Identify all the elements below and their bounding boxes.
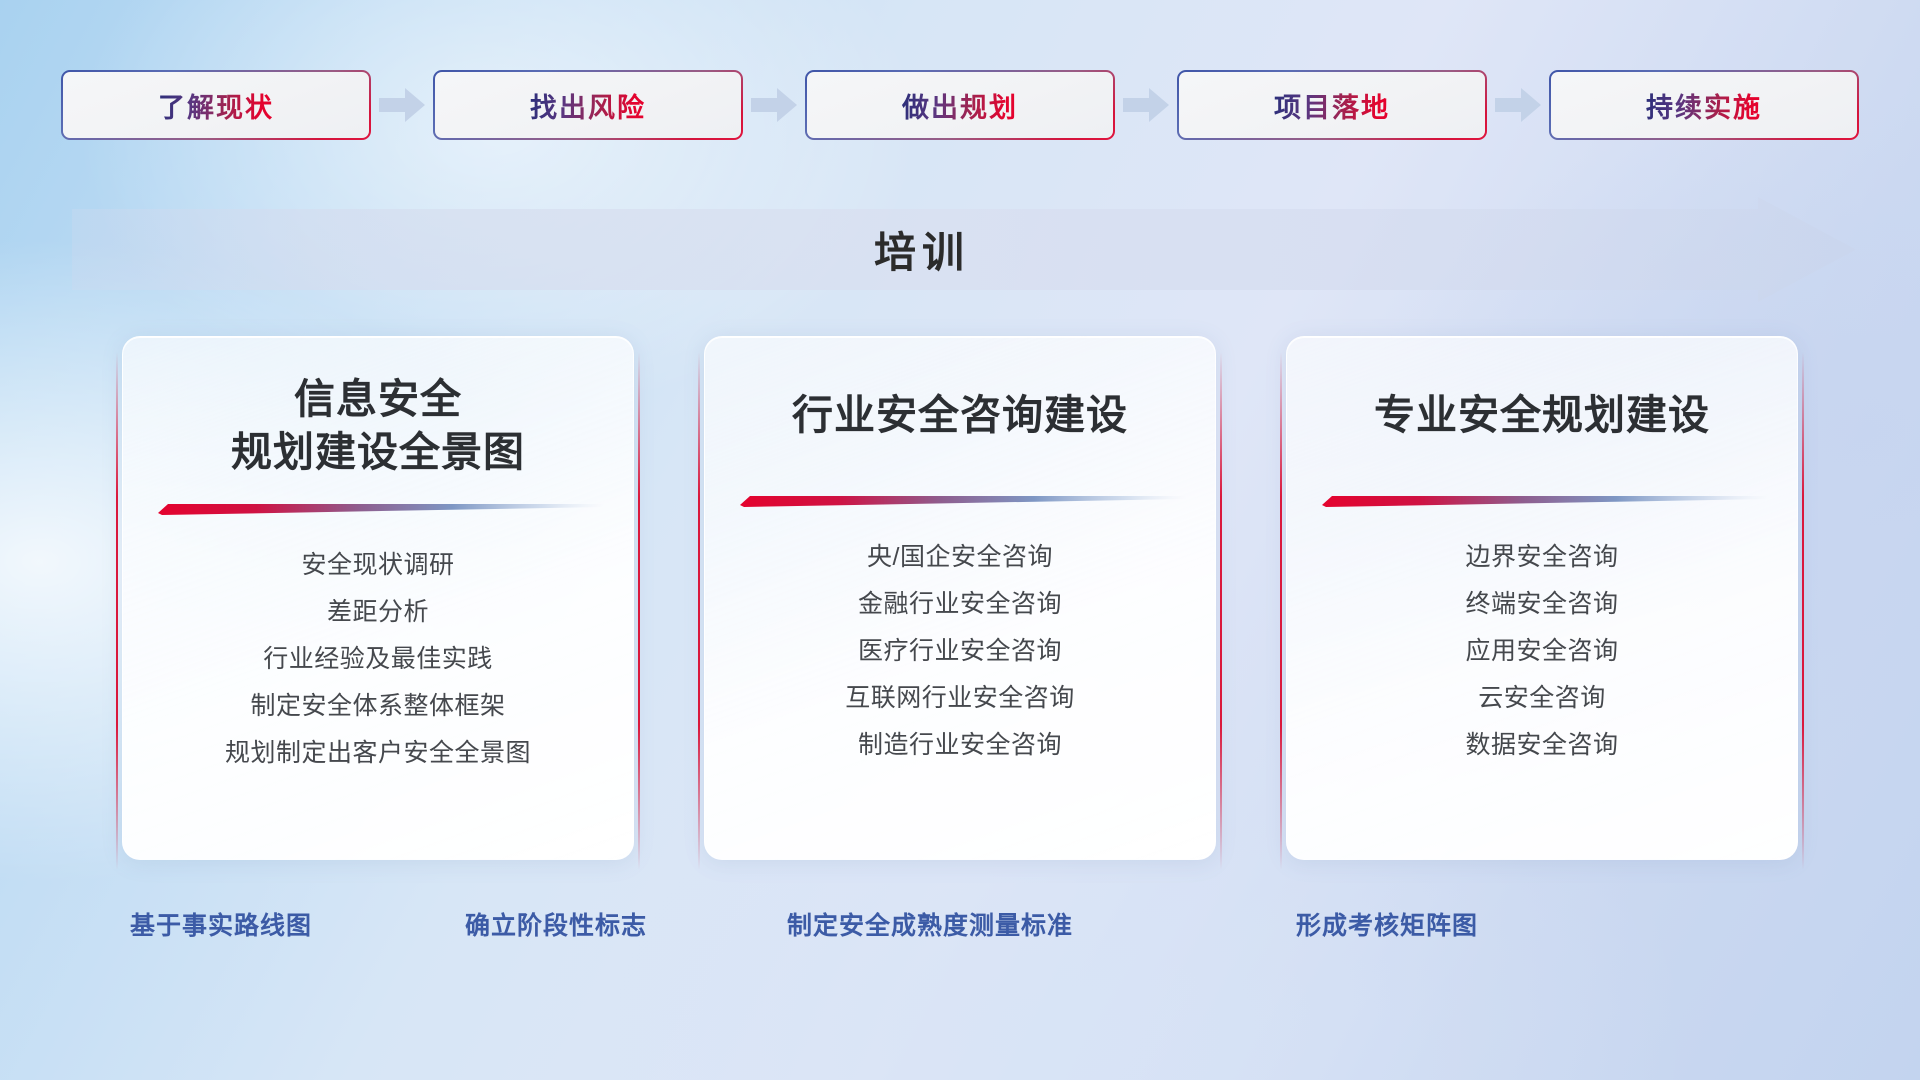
caption-2: 确立阶段性标志 <box>465 906 647 942</box>
list-item: 制定安全体系整体框架 <box>250 686 505 727</box>
service-card-2[interactable]: 行业安全咨询建设 <box>698 336 1222 876</box>
step-pill-2[interactable]: 找出风险 <box>433 70 743 140</box>
service-card-1[interactable]: 信息安全 规划建设全景图 <box>116 336 640 876</box>
card-1-left-accent <box>116 352 118 870</box>
step-pill-2-label: 找出风险 <box>530 86 646 125</box>
step-pill-3-label: 做出规划 <box>902 86 1018 125</box>
gradient-divider-icon <box>1316 494 1768 507</box>
caption-4: 形成考核矩阵图 <box>1296 906 1478 942</box>
service-card-3[interactable]: 专业安全规划建设 <box>1280 336 1804 876</box>
service-card-3-title: 专业安全规划建设 <box>1374 389 1710 442</box>
card-2-left-accent <box>698 352 700 870</box>
list-item: 应用安全咨询 <box>1465 631 1618 672</box>
service-card-3-body: 专业安全规划建设 <box>1286 336 1798 860</box>
step-pill-1-inner: 了解现状 <box>63 72 369 138</box>
step-pill-5-inner: 持续实施 <box>1551 72 1857 138</box>
service-card-1-body: 信息安全 规划建设全景图 <box>122 336 634 860</box>
list-item: 规划制定出客户安全全景图 <box>225 733 531 774</box>
list-item: 差距分析 <box>327 592 429 633</box>
right-arrow-icon <box>743 88 805 122</box>
caption-1: 基于事实路线图 <box>130 906 312 942</box>
banner-label: 培训 <box>874 219 970 280</box>
right-arrow-icon <box>371 88 433 122</box>
step-pill-5[interactable]: 持续实施 <box>1549 70 1859 140</box>
step-wrap-5: 持续实施 <box>1549 70 1859 140</box>
step-pill-1-label: 了解现状 <box>158 86 274 125</box>
list-item: 行业经验及最佳实践 <box>263 639 493 680</box>
step-pill-4-label: 项目落地 <box>1274 86 1390 125</box>
list-item: 金融行业安全咨询 <box>858 584 1062 625</box>
list-item: 云安全咨询 <box>1478 678 1606 719</box>
list-item: 制造行业安全咨询 <box>858 725 1062 766</box>
step-pill-4[interactable]: 项目落地 <box>1177 70 1487 140</box>
card-1-right-accent <box>638 352 640 870</box>
step-wrap-1: 了解现状 <box>61 70 433 140</box>
step-pill-3[interactable]: 做出规划 <box>805 70 1115 140</box>
service-card-3-list: 边界安全咨询 终端安全咨询 应用安全咨询 云安全咨询 数据安全咨询 <box>1287 537 1797 766</box>
process-step-row: 了解现状 找出风险 <box>0 70 1920 140</box>
slide-canvas: 了解现状 找出风险 <box>0 0 1920 1080</box>
service-card-1-list: 安全现状调研 差距分析 行业经验及最佳实践 制定安全体系整体框架 规划制定出客户… <box>123 545 633 774</box>
step-pill-5-label: 持续实施 <box>1646 86 1762 125</box>
list-item: 互联网行业安全咨询 <box>845 678 1075 719</box>
step-pill-3-inner: 做出规划 <box>807 72 1113 138</box>
service-card-1-title: 信息安全 规划建设全景图 <box>231 373 525 480</box>
caption-row: 基于事实路线图 确立阶段性标志 制定安全成熟度测量标准 形成考核矩阵图 <box>0 906 1920 956</box>
list-item: 数据安全咨询 <box>1465 725 1618 766</box>
service-card-2-list: 央/国企安全咨询 金融行业安全咨询 医疗行业安全咨询 互联网行业安全咨询 制造行… <box>705 537 1215 766</box>
gradient-divider-icon <box>152 502 604 515</box>
step-wrap-4: 项目落地 <box>1177 70 1549 140</box>
step-pill-1[interactable]: 了解现状 <box>61 70 371 140</box>
list-item: 医疗行业安全咨询 <box>858 631 1062 672</box>
card-2-right-accent <box>1220 352 1222 870</box>
service-card-row: 信息安全 规划建设全景图 <box>0 336 1920 876</box>
caption-3: 制定安全成熟度测量标准 <box>787 906 1073 942</box>
step-pill-2-inner: 找出风险 <box>435 72 741 138</box>
right-arrow-icon <box>1115 88 1177 122</box>
right-arrow-icon <box>1487 88 1549 122</box>
step-wrap-2: 找出风险 <box>433 70 805 140</box>
service-card-2-body: 行业安全咨询建设 <box>704 336 1216 860</box>
list-item: 边界安全咨询 <box>1465 537 1618 578</box>
list-item: 央/国企安全咨询 <box>867 537 1053 578</box>
list-item: 安全现状调研 <box>301 545 454 586</box>
training-banner: 培训 <box>72 197 1856 302</box>
step-pill-4-inner: 项目落地 <box>1179 72 1485 138</box>
banner-label-wrap: 培训 <box>72 197 1772 302</box>
card-3-left-accent <box>1280 352 1282 870</box>
list-item: 终端安全咨询 <box>1465 584 1618 625</box>
step-wrap-3: 做出规划 <box>805 70 1177 140</box>
service-card-2-title: 行业安全咨询建设 <box>792 389 1128 442</box>
gradient-divider-icon <box>734 494 1186 507</box>
card-3-right-accent <box>1802 352 1804 870</box>
